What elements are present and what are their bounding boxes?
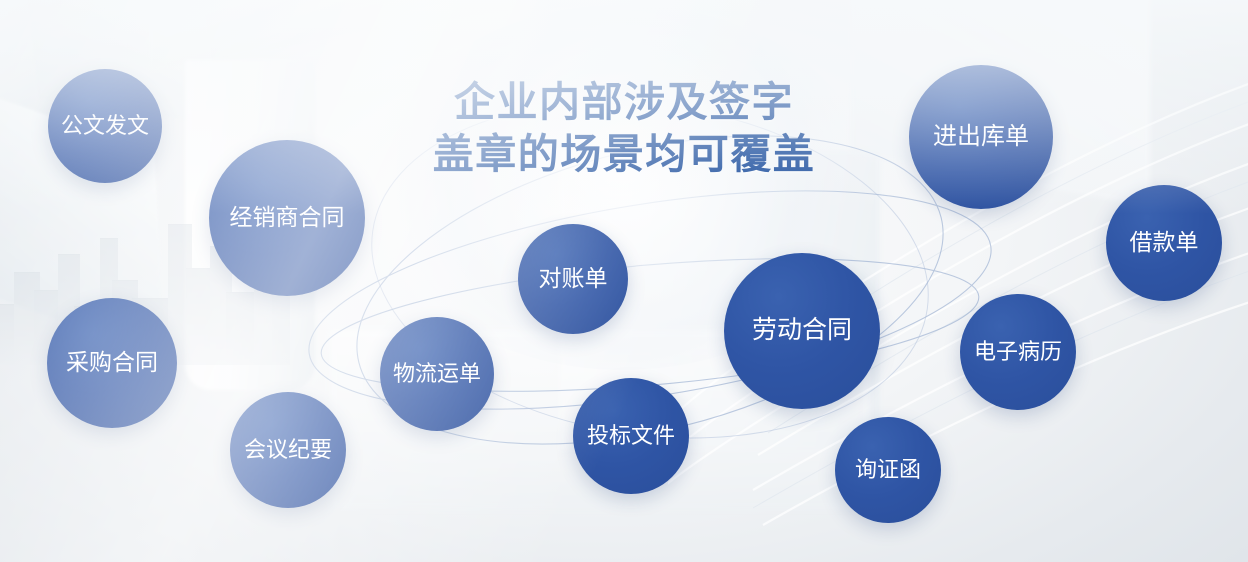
bubble-gongwen-fawen[interactable]: 公文发文 xyxy=(48,69,162,183)
bubble-label: 借款单 xyxy=(1130,230,1199,255)
bubble-label: 对账单 xyxy=(539,266,608,291)
bubble-label: 会议纪要 xyxy=(244,438,332,462)
headline-line-2: 盖章的场景均可覆盖 xyxy=(0,128,1248,180)
bubble-caigou-hetong[interactable]: 采购合同 xyxy=(47,298,177,428)
bubble-jiekuandan[interactable]: 借款单 xyxy=(1106,185,1222,301)
bubble-label: 采购合同 xyxy=(66,350,158,375)
bubble-jinchu-kudan[interactable]: 进出库单 xyxy=(909,65,1053,209)
bubble-label: 劳动合同 xyxy=(752,317,852,345)
bubble-wuliu-yundan[interactable]: 物流运单 xyxy=(380,317,494,431)
page-title: 企业内部涉及签字 盖章的场景均可覆盖 xyxy=(0,76,1248,181)
bubble-label: 经销商合同 xyxy=(230,205,345,230)
bubble-label: 公文发文 xyxy=(61,114,149,138)
bubble-label: 物流运单 xyxy=(393,362,481,386)
headline-line-1: 企业内部涉及签字 xyxy=(454,79,794,125)
bubble-jingxiaoshang[interactable]: 经销商合同 xyxy=(209,140,365,296)
bubble-duizhangdan[interactable]: 对账单 xyxy=(518,224,628,334)
bubble-label: 电子病历 xyxy=(974,340,1062,364)
bubble-label: 进出库单 xyxy=(933,124,1029,150)
bubble-laodong-hetong[interactable]: 劳动合同 xyxy=(724,253,880,409)
bubble-toubiao-wenjian[interactable]: 投标文件 xyxy=(573,378,689,494)
banner-canvas: 企业内部涉及签字 盖章的场景均可覆盖 公文发文经销商合同采购合同会议纪要物流运单… xyxy=(0,0,1248,562)
bubble-label: 投标文件 xyxy=(587,424,675,448)
bubble-dianzi-bingli[interactable]: 电子病历 xyxy=(960,294,1076,410)
bubble-label: 询证函 xyxy=(855,458,921,482)
bubble-huiyi-jiyao[interactable]: 会议纪要 xyxy=(230,392,346,508)
bubble-xunzhenghan[interactable]: 询证函 xyxy=(835,417,941,523)
